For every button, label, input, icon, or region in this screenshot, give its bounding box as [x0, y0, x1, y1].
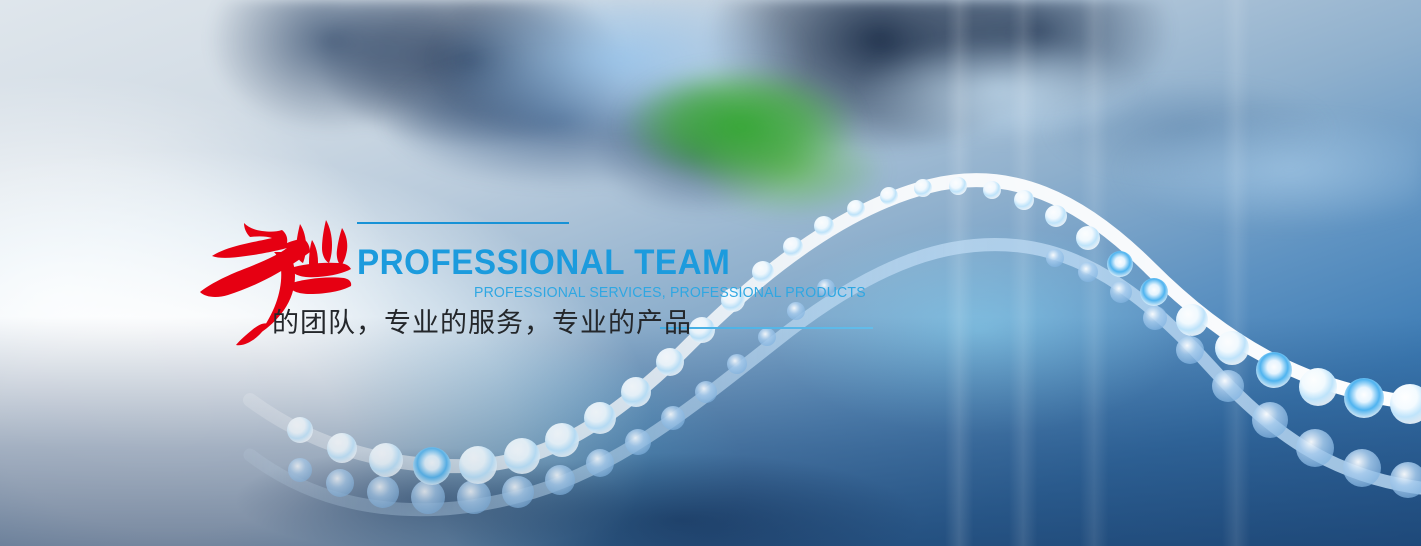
top-accent-rule — [357, 222, 569, 224]
banner-title: PROFESSIONAL TEAM — [357, 243, 730, 283]
hero-banner: PROFESSIONAL TEAM PROFESSIONAL SERVICES,… — [0, 0, 1421, 546]
banner-subtitle-en: PROFESSIONAL SERVICES, PROFESSIONAL PROD… — [474, 285, 866, 301]
banner-copy: PROFESSIONAL TEAM PROFESSIONAL SERVICES,… — [0, 0, 1421, 546]
banner-subtitle-cn: 的团队，专业的服务，专业的产品 — [272, 306, 692, 340]
